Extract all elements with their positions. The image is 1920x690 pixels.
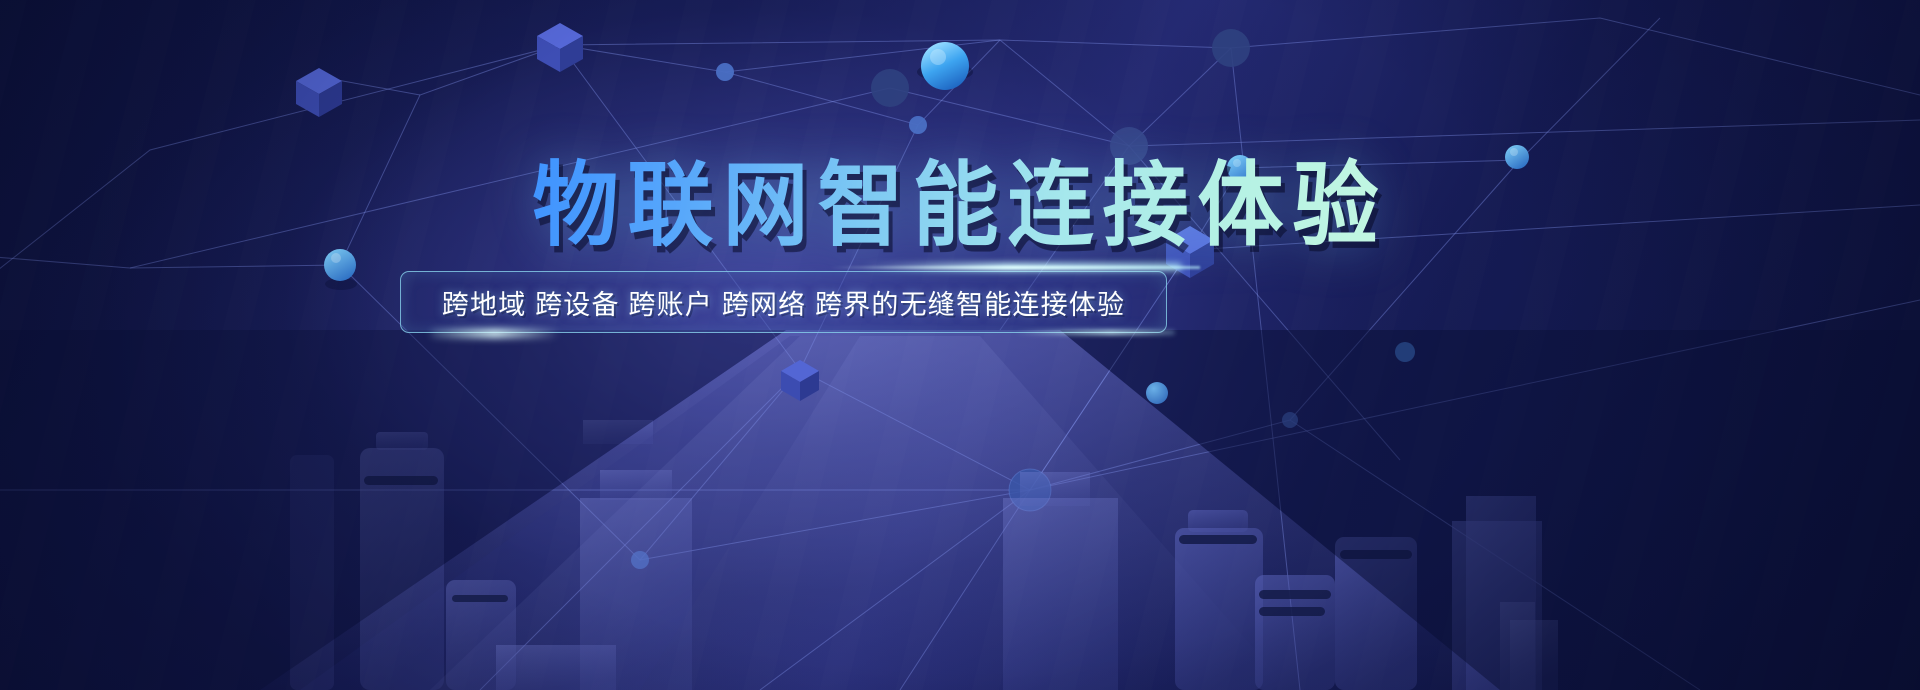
page-title: 物联网智能连接体验: [533, 157, 1388, 256]
title-wrapper: 物联网智能连接体验: [0, 160, 1920, 253]
background-vignette: [0, 0, 1920, 690]
subtitle-box: 跨地域 跨设备 跨账户 跨网络 跨界的无缝智能连接体验: [400, 271, 1167, 333]
iot-banner: 物联网智能连接体验 跨地域 跨设备 跨账户 跨网络 跨界的无缝智能连接体验: [0, 0, 1920, 690]
subtitle-text: 跨地域 跨设备 跨账户 跨网络 跨界的无缝智能连接体验: [442, 283, 1125, 322]
corner-node-icon: [1146, 382, 1168, 404]
